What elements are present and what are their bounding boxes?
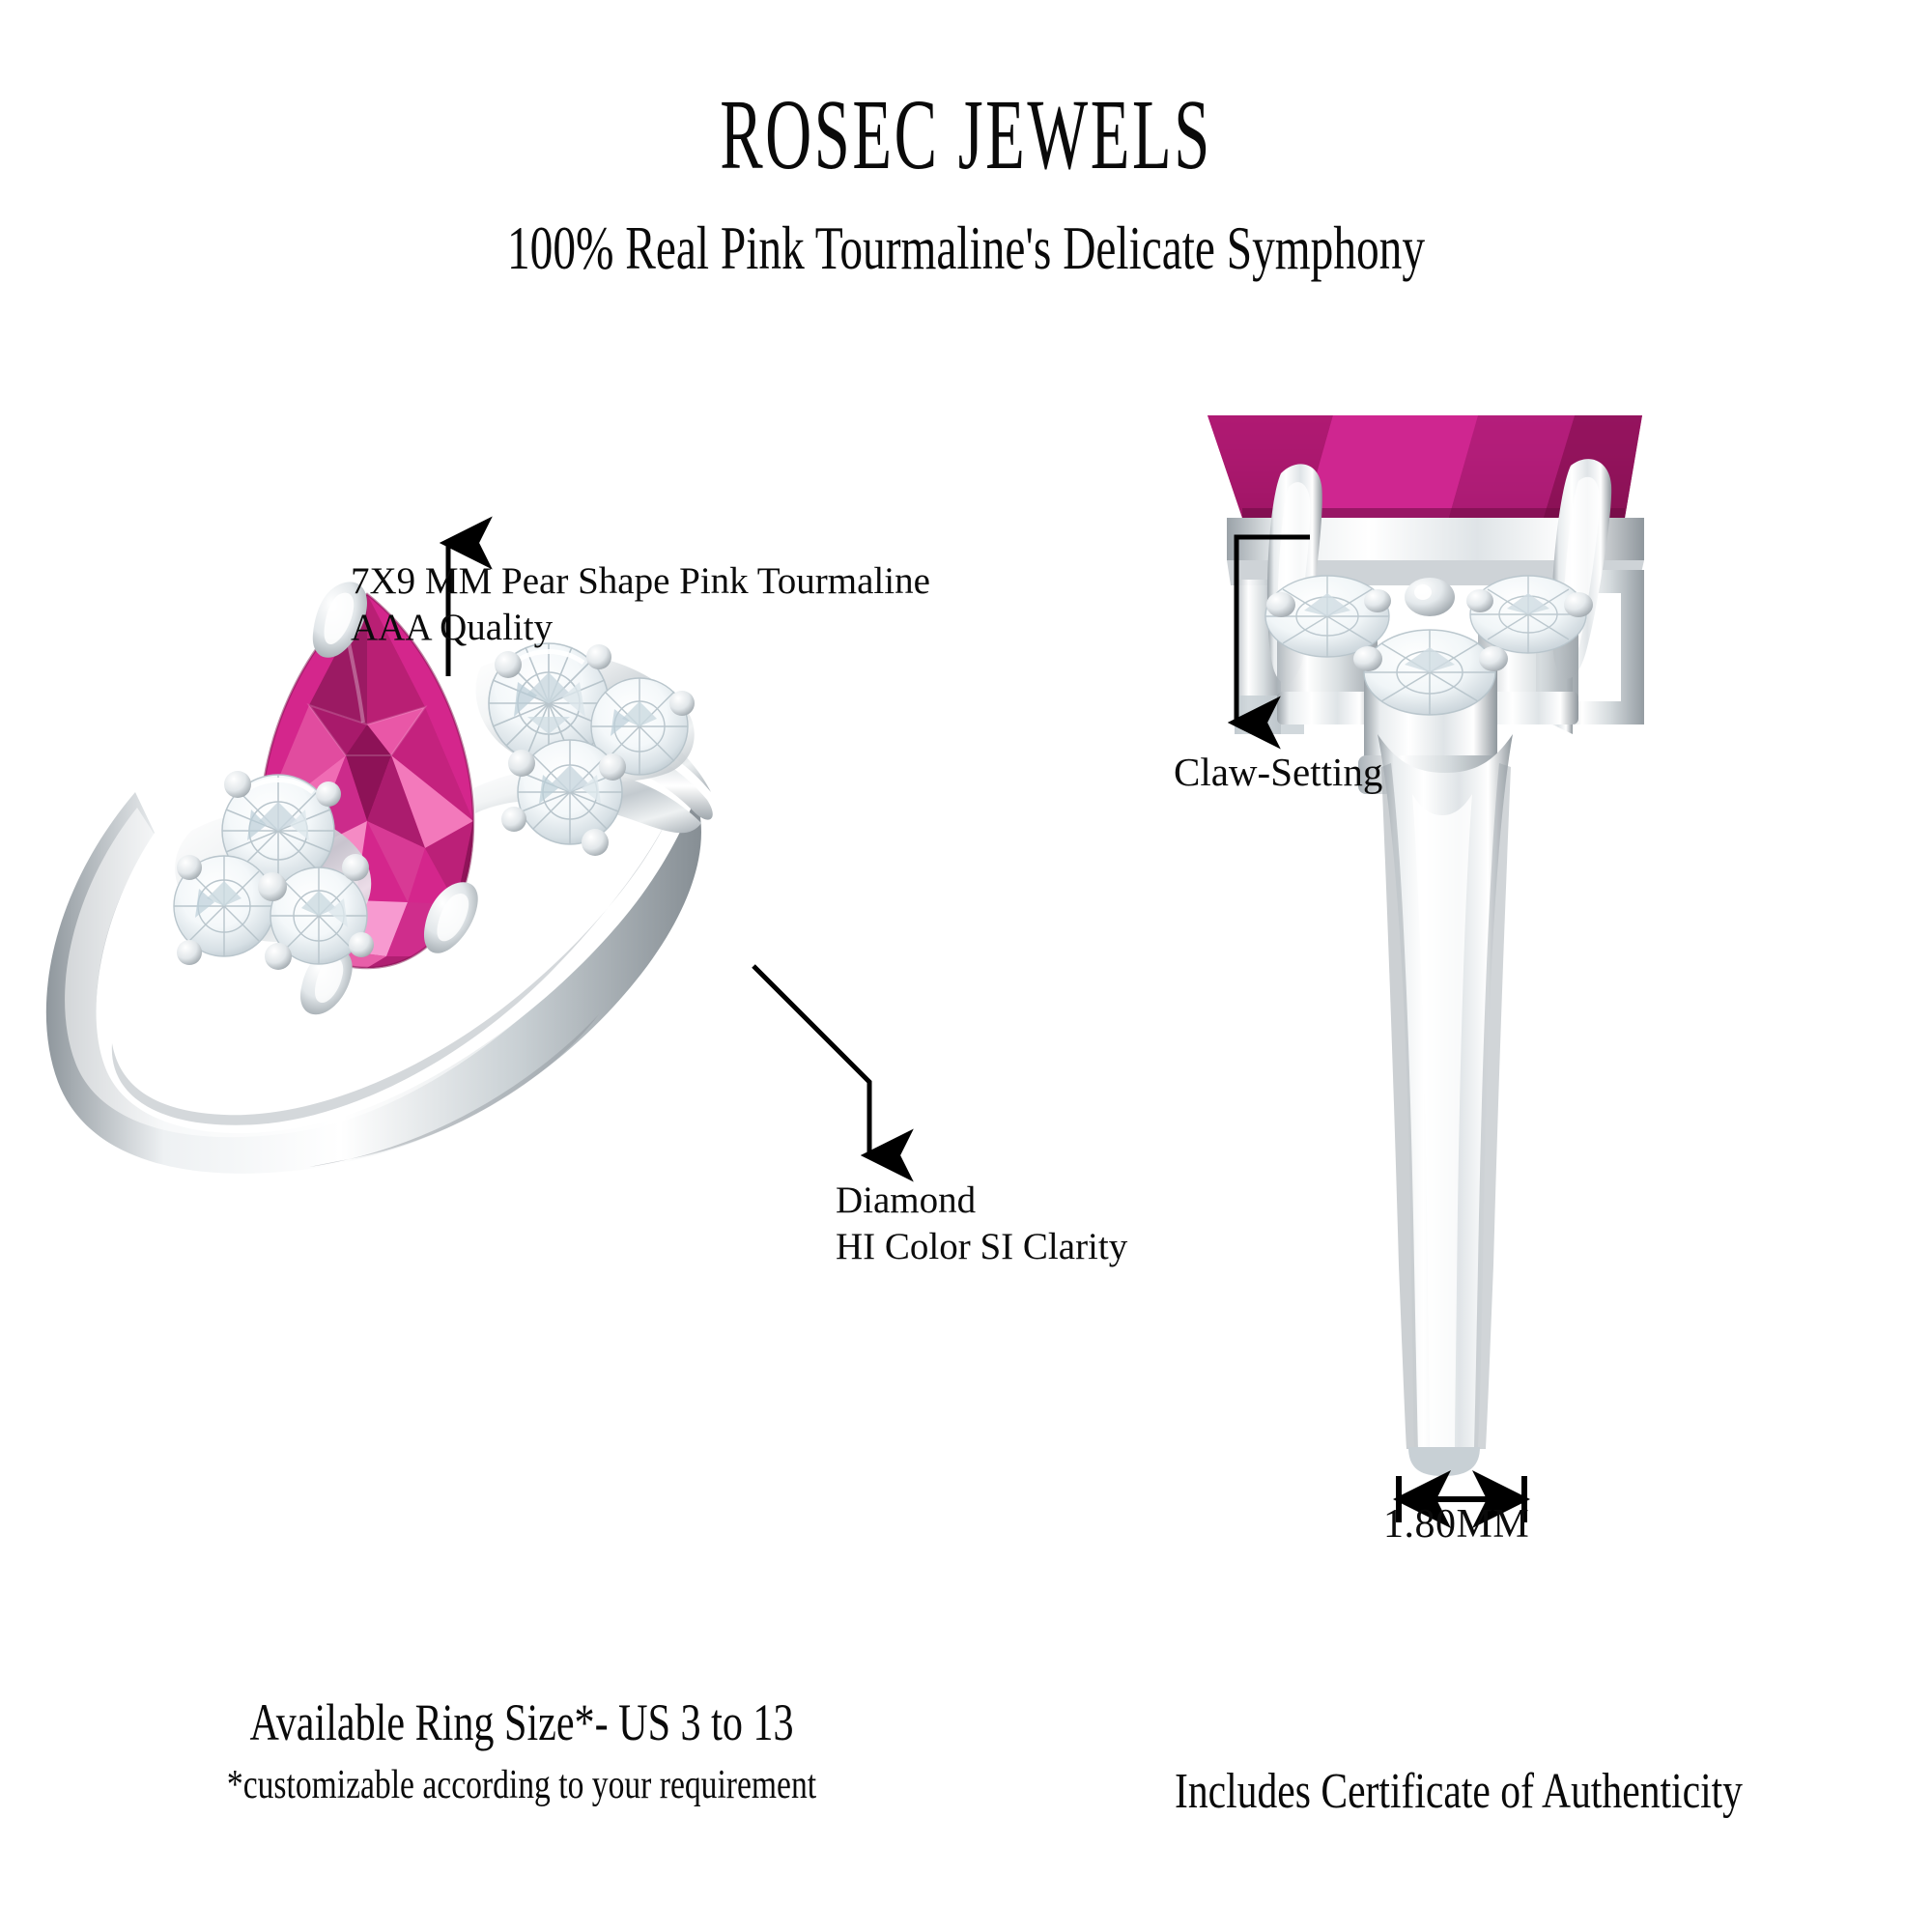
ring-side-view-image bbox=[1188, 415, 1729, 1497]
gemstone-annotation-line1: 7X9 MM Pear Shape Pink Tourmaline bbox=[351, 558, 930, 605]
page-subtitle: 100% Real Pink Tourmaline's Delicate Sym… bbox=[251, 217, 1681, 279]
ring-shank-profile bbox=[1378, 734, 1513, 1476]
diamond-annotation-line2: HI Color SI Clarity bbox=[836, 1224, 1127, 1270]
claw-setting-annotation: Claw-Setting bbox=[1174, 749, 1382, 796]
claw-setting-label: Claw-Setting bbox=[1174, 749, 1382, 796]
footer-left-block: Available Ring Size*- US 3 to 13 *custom… bbox=[87, 1695, 956, 1808]
diamond-stone bbox=[1470, 576, 1586, 653]
ring-size-text: Available Ring Size*- US 3 to 13 bbox=[183, 1695, 861, 1750]
infographic-canvas: ROSEC JEWELS 100% Real Pink Tourmaline's… bbox=[0, 0, 1932, 1932]
band-width-label: 1.80MM bbox=[1383, 1501, 1529, 1548]
certificate-text: Includes Certificate of Authenticity bbox=[1111, 1766, 1806, 1819]
diamond-stone bbox=[1364, 630, 1495, 715]
gemstone-annotation-line2: AAA Quality bbox=[351, 605, 930, 651]
diamond-annotation: Diamond HI Color SI Clarity bbox=[836, 1178, 1127, 1269]
customizable-note: *customizable according to your requirem… bbox=[174, 1762, 869, 1808]
gemstone-annotation: 7X9 MM Pear Shape Pink Tourmaline AAA Qu… bbox=[351, 558, 930, 650]
center-prong-head bbox=[1405, 578, 1455, 616]
diamond-annotation-line1: Diamond bbox=[836, 1178, 1127, 1224]
page-title: ROSEC JEWELS bbox=[348, 85, 1584, 185]
